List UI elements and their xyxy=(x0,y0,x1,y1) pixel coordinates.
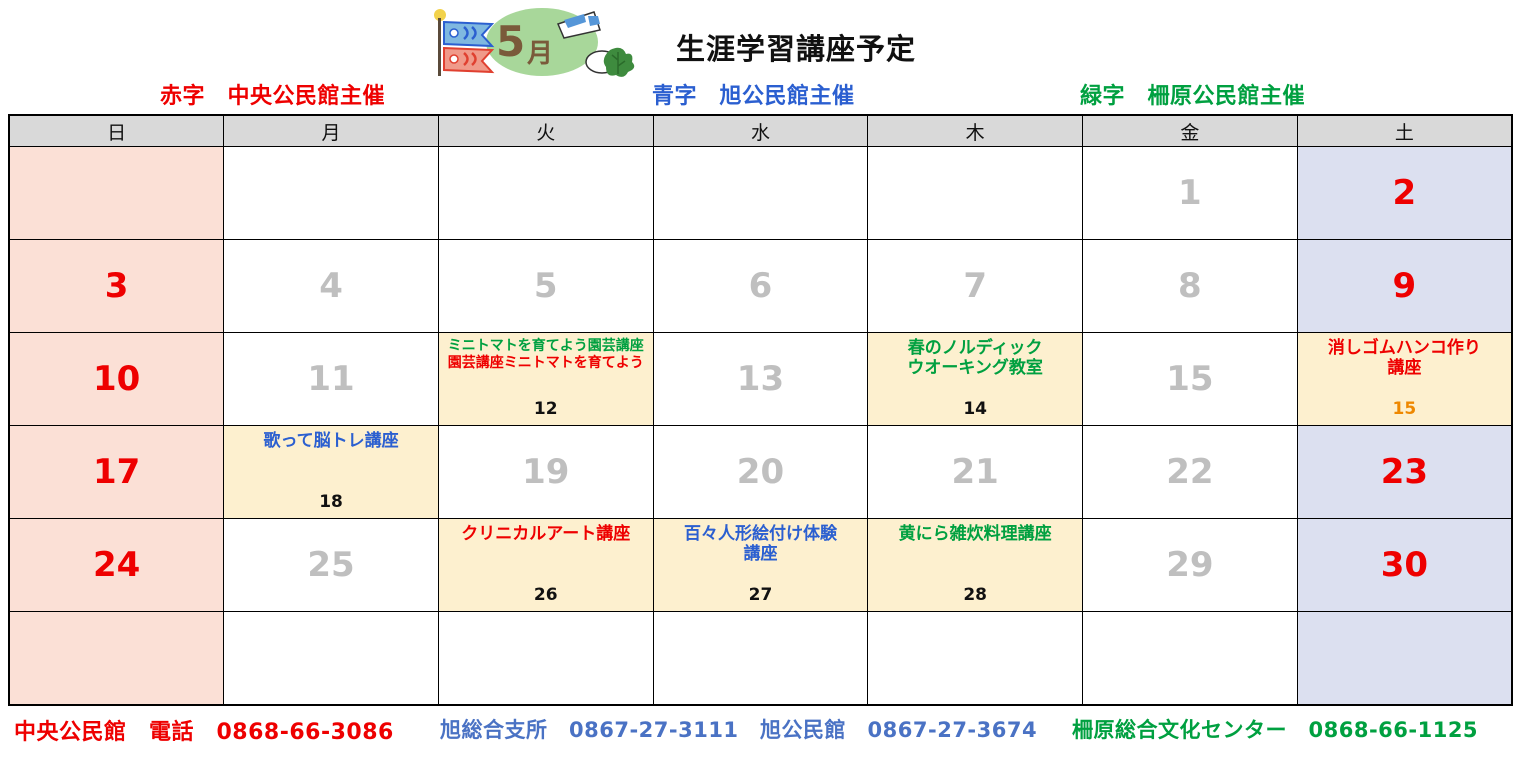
day-number: 7 xyxy=(963,269,987,303)
calendar-day-cell[interactable] xyxy=(868,612,1083,706)
day-number: 10 xyxy=(93,362,140,396)
calendar-day-cell[interactable]: 11 xyxy=(224,333,439,426)
event-title-line: ミニトマトを育てよう園芸講座 xyxy=(439,339,653,355)
day-cell-content xyxy=(439,612,653,704)
calendar-week-row: 1011ミニトマトを育てよう園芸講座園芸講座ミニトマトを育てよう1213春のノル… xyxy=(9,333,1512,426)
day-number: 12 xyxy=(439,399,653,419)
day-cell-content xyxy=(654,612,868,704)
weekday-header-mon: 月 xyxy=(224,115,439,147)
event-title-line: 春のノルディック xyxy=(868,339,1082,358)
calendar-day-cell[interactable]: 30 xyxy=(1297,519,1512,612)
day-number: 5 xyxy=(534,269,558,303)
day-number: 20 xyxy=(737,455,784,489)
day-cell-content: 6 xyxy=(654,240,868,332)
calendar-day-cell[interactable]: 歌って脳トレ講座18 xyxy=(224,426,439,519)
calendar-day-cell[interactable] xyxy=(653,612,868,706)
event-title-block: ミニトマトを育てよう園芸講座園芸講座ミニトマトを育てよう xyxy=(439,339,653,371)
day-cell-content: 2 xyxy=(1298,147,1511,239)
day-cell-content: 22 xyxy=(1083,426,1297,518)
calendar-week-row xyxy=(9,612,1512,706)
day-number: 27 xyxy=(654,585,868,605)
weekday-header-row: 日 月 火 水 木 金 土 xyxy=(9,115,1512,147)
calendar-table: 日 月 火 水 木 金 土 1234567891011ミニトマトを育てよう園芸講… xyxy=(8,114,1513,706)
weekday-header-wed: 水 xyxy=(653,115,868,147)
day-number: 26 xyxy=(439,585,653,605)
contact-chuo-kouminkan: 中央公民館 電話 0868-66-3086 xyxy=(14,714,394,746)
calendar-day-cell[interactable]: 8 xyxy=(1083,240,1298,333)
day-cell-content xyxy=(654,147,868,239)
event-title-block: 黄にら雑炊料理講座 xyxy=(868,525,1082,544)
calendar-day-cell[interactable] xyxy=(438,612,653,706)
weekday-header-sat: 土 xyxy=(1297,115,1512,147)
day-cell-content: 25 xyxy=(224,519,438,611)
calendar-week-row: 17歌って脳トレ講座181920212223 xyxy=(9,426,1512,519)
weekday-header-thu: 木 xyxy=(868,115,1083,147)
page-title: 生涯学習講座予定 xyxy=(676,26,916,68)
day-number: 21 xyxy=(952,455,999,489)
day-cell-content: 黄にら雑炊料理講座28 xyxy=(868,519,1082,611)
day-number: 28 xyxy=(868,585,1082,605)
calendar-body: 1234567891011ミニトマトを育てよう園芸講座園芸講座ミニトマトを育てよ… xyxy=(9,147,1512,706)
calendar-day-cell[interactable]: 10 xyxy=(9,333,224,426)
day-number: 22 xyxy=(1166,455,1213,489)
day-cell-content xyxy=(224,147,438,239)
day-cell-content: 3 xyxy=(10,240,223,332)
calendar-day-cell[interactable]: 13 xyxy=(653,333,868,426)
day-cell-content xyxy=(10,612,223,704)
day-number: 6 xyxy=(749,269,773,303)
calendar-day-cell[interactable] xyxy=(224,612,439,706)
event-title-block: 歌って脳トレ講座 xyxy=(224,432,438,451)
page-header: 5 月 生涯学習講座予定 xyxy=(0,0,1521,78)
event-title-line: ウオーキング教室 xyxy=(868,359,1082,378)
calendar-day-cell[interactable] xyxy=(1083,612,1298,706)
day-number: 15 xyxy=(1166,362,1213,396)
day-cell-content: 21 xyxy=(868,426,1082,518)
day-cell-content: 11 xyxy=(224,333,438,425)
day-cell-content: 20 xyxy=(654,426,868,518)
calendar-day-cell[interactable]: 2 xyxy=(1297,147,1512,240)
event-title-line: 歌って脳トレ講座 xyxy=(224,432,438,451)
day-number: 17 xyxy=(93,455,140,489)
day-number: 1 xyxy=(1178,176,1202,210)
day-cell-content: 消しゴムハンコ作り講座15 xyxy=(1298,333,1511,425)
day-number: 4 xyxy=(319,269,343,303)
calendar-day-cell[interactable] xyxy=(224,147,439,240)
day-number: 24 xyxy=(93,548,140,582)
day-cell-content xyxy=(868,612,1082,704)
calendar-day-cell[interactable] xyxy=(438,147,653,240)
calendar-day-cell[interactable]: 15 xyxy=(1083,333,1298,426)
calendar-day-cell[interactable]: 17 xyxy=(9,426,224,519)
weekday-header-sun: 日 xyxy=(9,115,224,147)
calendar-day-cell[interactable]: 22 xyxy=(1083,426,1298,519)
day-cell-content: ミニトマトを育てよう園芸講座園芸講座ミニトマトを育てよう12 xyxy=(439,333,653,425)
calendar-day-cell[interactable]: 消しゴムハンコ作り講座15 xyxy=(1297,333,1512,426)
calendar-day-cell[interactable]: クリニカルアート講座26 xyxy=(438,519,653,612)
calendar-day-cell[interactable] xyxy=(653,147,868,240)
day-number: 23 xyxy=(1381,455,1428,489)
day-cell-content: 5 xyxy=(439,240,653,332)
calendar-day-cell[interactable] xyxy=(1297,612,1512,706)
may-kobori-illustration: 5 月 xyxy=(424,2,654,78)
day-number: 11 xyxy=(307,362,354,396)
calendar-day-cell[interactable]: 20 xyxy=(653,426,868,519)
day-cell-content: 19 xyxy=(439,426,653,518)
calendar-day-cell[interactable]: 25 xyxy=(224,519,439,612)
day-cell-content: 24 xyxy=(10,519,223,611)
day-number: 13 xyxy=(737,362,784,396)
legend-item-chuo: 赤字 中央公民館主催 xyxy=(160,78,385,110)
calendar-day-cell[interactable] xyxy=(9,612,224,706)
day-cell-content: 7 xyxy=(868,240,1082,332)
day-cell-content xyxy=(1298,612,1511,704)
day-cell-content: 百々人形絵付け体験講座27 xyxy=(654,519,868,611)
day-number: 29 xyxy=(1166,548,1213,582)
day-number: 3 xyxy=(105,269,129,303)
event-title-line: 講座 xyxy=(654,545,868,564)
day-cell-content: 10 xyxy=(10,333,223,425)
day-number: 19 xyxy=(522,455,569,489)
svg-text:月: 月 xyxy=(526,39,553,69)
day-number: 18 xyxy=(224,492,438,512)
day-cell-content: 13 xyxy=(654,333,868,425)
calendar-day-cell[interactable] xyxy=(868,147,1083,240)
day-cell-content: 29 xyxy=(1083,519,1297,611)
calendar-day-cell[interactable]: 5 xyxy=(438,240,653,333)
event-title-line: 黄にら雑炊料理講座 xyxy=(868,525,1082,544)
calendar-day-cell[interactable]: 29 xyxy=(1083,519,1298,612)
day-cell-content: 30 xyxy=(1298,519,1511,611)
day-cell-content: 8 xyxy=(1083,240,1297,332)
event-title-line: 講座 xyxy=(1298,359,1511,378)
day-number: 15 xyxy=(1298,399,1511,419)
calendar-day-cell[interactable]: 23 xyxy=(1297,426,1512,519)
day-number: 14 xyxy=(868,399,1082,419)
calendar-day-cell[interactable]: 黄にら雑炊料理講座28 xyxy=(868,519,1083,612)
calendar-day-cell[interactable]: 1 xyxy=(1083,147,1298,240)
event-title-block: クリニカルアート講座 xyxy=(439,525,653,544)
event-title-line: 消しゴムハンコ作り xyxy=(1298,339,1511,358)
contact-yanahara: 柵原総合文化センター 0868-66-1125 xyxy=(1072,714,1478,744)
calendar-day-cell[interactable]: 7 xyxy=(868,240,1083,333)
legend: 赤字 中央公民館主催 青字 旭公民館主催 緑字 柵原公民館主催 xyxy=(0,78,1521,114)
calendar-week-row: 12 xyxy=(9,147,1512,240)
weekday-header-tue: 火 xyxy=(438,115,653,147)
day-cell-content: 春のノルディックウオーキング教室14 xyxy=(868,333,1082,425)
calendar-day-cell[interactable]: 4 xyxy=(224,240,439,333)
day-cell-content xyxy=(868,147,1082,239)
legend-item-asahi: 青字 旭公民館主催 xyxy=(652,78,855,110)
day-cell-content xyxy=(224,612,438,704)
day-cell-content: 15 xyxy=(1083,333,1297,425)
calendar-day-cell[interactable]: 9 xyxy=(1297,240,1512,333)
calendar-day-cell[interactable]: 24 xyxy=(9,519,224,612)
weekday-header-fri: 金 xyxy=(1083,115,1298,147)
event-title-block: 百々人形絵付け体験講座 xyxy=(654,525,868,563)
event-title-block: 消しゴムハンコ作り講座 xyxy=(1298,339,1511,377)
day-cell-content: 17 xyxy=(10,426,223,518)
day-number: 30 xyxy=(1381,548,1428,582)
calendar-day-cell[interactable]: 春のノルディックウオーキング教室14 xyxy=(868,333,1083,426)
svg-text:5: 5 xyxy=(496,17,525,66)
calendar-day-cell[interactable]: 3 xyxy=(9,240,224,333)
legend-item-yanahara: 緑字 柵原公民館主催 xyxy=(1080,78,1305,110)
contact-asahi: 旭総合支所 0867-27-3111 旭公民館 0867-27-3674 xyxy=(440,714,1037,744)
day-cell-content xyxy=(439,147,653,239)
event-title-line: 園芸講座ミニトマトを育てよう xyxy=(439,356,653,372)
day-cell-content xyxy=(1083,612,1297,704)
calendar-day-cell[interactable]: ミニトマトを育てよう園芸講座園芸講座ミニトマトを育てよう12 xyxy=(438,333,653,426)
calendar-day-cell[interactable]: 19 xyxy=(438,426,653,519)
day-cell-content: 歌って脳トレ講座18 xyxy=(224,426,438,518)
calendar-day-cell[interactable]: 百々人形絵付け体験講座27 xyxy=(653,519,868,612)
contact-footer: 中央公民館 電話 0868-66-3086 旭総合支所 0867-27-3111… xyxy=(0,708,1521,750)
event-title-line: 百々人形絵付け体験 xyxy=(654,525,868,544)
calendar-day-cell[interactable]: 6 xyxy=(653,240,868,333)
calendar-week-row: 3456789 xyxy=(9,240,1512,333)
day-cell-content xyxy=(10,147,223,239)
day-cell-content: 1 xyxy=(1083,147,1297,239)
calendar-week-row: 2425クリニカルアート講座26百々人形絵付け体験講座27黄にら雑炊料理講座28… xyxy=(9,519,1512,612)
day-cell-content: 9 xyxy=(1298,240,1511,332)
event-title-block: 春のノルディックウオーキング教室 xyxy=(868,339,1082,377)
calendar-day-cell[interactable]: 21 xyxy=(868,426,1083,519)
day-number: 9 xyxy=(1393,269,1417,303)
day-number: 2 xyxy=(1393,176,1417,210)
calendar-day-cell[interactable] xyxy=(9,147,224,240)
event-title-line: クリニカルアート講座 xyxy=(439,525,653,544)
day-number: 8 xyxy=(1178,269,1202,303)
day-cell-content: 4 xyxy=(224,240,438,332)
day-cell-content: 23 xyxy=(1298,426,1511,518)
day-cell-content: クリニカルアート講座26 xyxy=(439,519,653,611)
day-number: 25 xyxy=(307,548,354,582)
